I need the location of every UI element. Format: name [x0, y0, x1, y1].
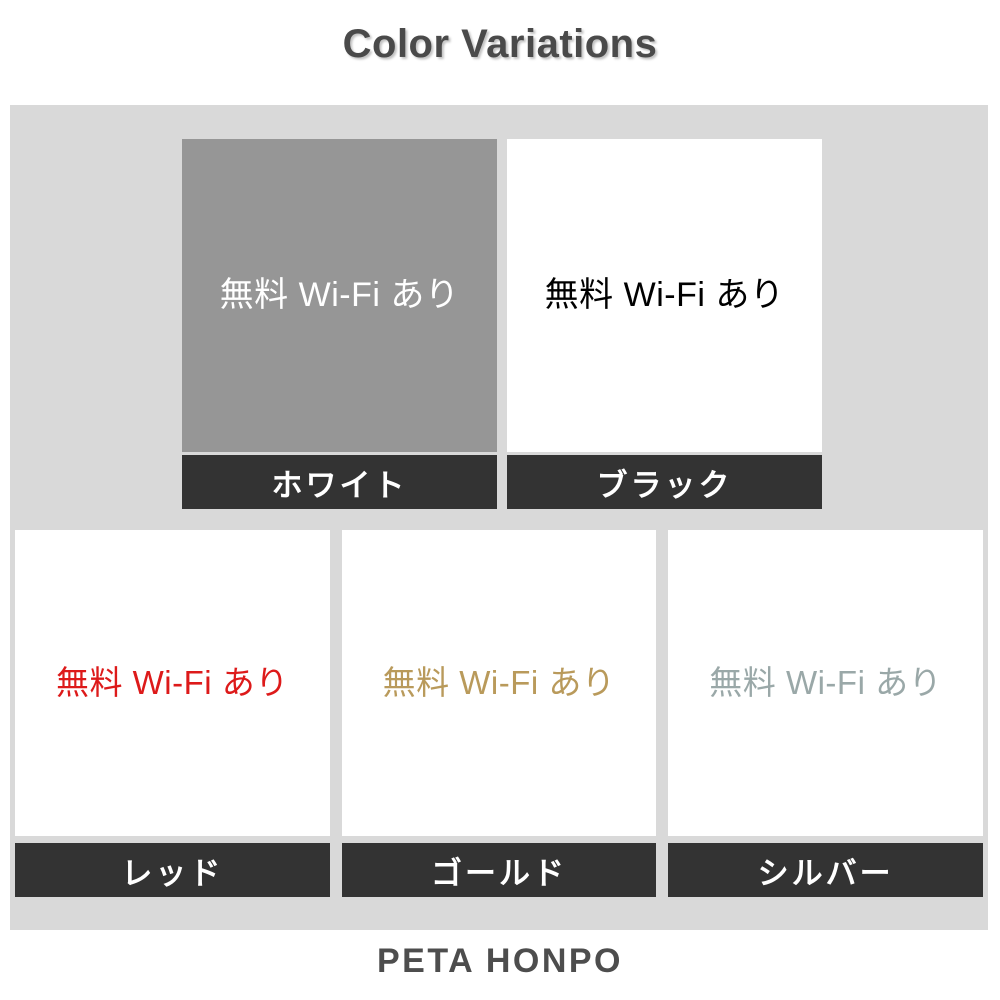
- color-tile-white[interactable]: 無料 Wi-Fi あり ホワイト: [182, 139, 497, 509]
- swatch-caption: 無料 Wi-Fi あり: [383, 665, 616, 701]
- color-swatch-white[interactable]: 無料 Wi-Fi あり: [182, 139, 497, 452]
- color-swatch-red[interactable]: 無料 Wi-Fi あり: [15, 530, 330, 836]
- color-variations-panel: 無料 Wi-Fi あり ホワイト 無料 Wi-Fi あり ブラック 無料 Wi-…: [10, 105, 988, 930]
- color-tile-black[interactable]: 無料 Wi-Fi あり ブラック: [507, 139, 822, 509]
- color-tile-red[interactable]: 無料 Wi-Fi あり レッド: [15, 530, 330, 897]
- color-label-red: レッド: [15, 843, 330, 897]
- color-label-white: ホワイト: [182, 455, 497, 509]
- swatch-caption: 無料 Wi-Fi あり: [545, 277, 785, 314]
- footer-brand: PETA HONPO: [0, 942, 1000, 981]
- color-swatch-silver[interactable]: 無料 Wi-Fi あり: [668, 530, 983, 836]
- swatch-caption: 無料 Wi-Fi あり: [56, 665, 289, 701]
- page-title: Color Variations: [0, 22, 1000, 67]
- color-tile-silver[interactable]: 無料 Wi-Fi あり シルバー: [668, 530, 983, 897]
- color-tile-gold[interactable]: 無料 Wi-Fi あり ゴールド: [342, 530, 657, 897]
- color-label-gold: ゴールド: [342, 843, 657, 897]
- color-swatch-gold[interactable]: 無料 Wi-Fi あり: [342, 530, 657, 836]
- color-row-bottom: 無料 Wi-Fi あり レッド 無料 Wi-Fi あり ゴールド 無料 Wi-F…: [15, 530, 983, 897]
- color-row-top: 無料 Wi-Fi あり ホワイト 無料 Wi-Fi あり ブラック: [182, 139, 822, 509]
- color-label-black: ブラック: [507, 455, 822, 509]
- color-swatch-black[interactable]: 無料 Wi-Fi あり: [507, 139, 822, 452]
- swatch-caption: 無料 Wi-Fi あり: [220, 277, 460, 314]
- color-label-silver: シルバー: [668, 843, 983, 897]
- swatch-caption: 無料 Wi-Fi あり: [709, 665, 942, 701]
